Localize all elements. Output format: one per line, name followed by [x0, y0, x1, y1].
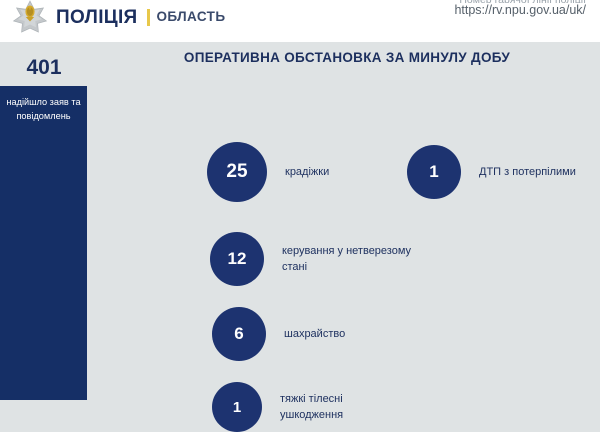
stat-row-drunk-driving[interactable]: 12 керування у нетверезому стані	[210, 232, 422, 286]
stat-row-grievous-bodily-harm[interactable]: 1 тяжкі тілесні ушкодження	[212, 382, 400, 432]
brand-region-label: ОБЛАСТЬ	[157, 10, 226, 24]
total-reports-panel: надійшло заяв та повідомлень	[0, 86, 87, 400]
stat-bubble-value: 6	[212, 307, 266, 361]
site-url-link[interactable]: https://rv.npu.gov.ua/uk/	[454, 3, 586, 19]
stat-row-road-accidents[interactable]: 1 ДТП з потерпілими	[407, 145, 576, 199]
stat-bubble-value: 25	[207, 142, 267, 202]
stat-row-fraud[interactable]: 6 шахрайство	[212, 307, 345, 361]
stat-label: ДТП з потерпілими	[479, 164, 576, 181]
board-title-strip: ОПЕРАТИВНА ОБСТАНОВКА ЗА МИНУЛУ ДОБУ	[88, 50, 600, 72]
stat-label: крадіжки	[285, 164, 329, 181]
stat-label: керування у нетверезому стані	[282, 243, 422, 276]
total-reports-value: 401	[0, 56, 88, 80]
stat-bubble-value: 1	[212, 382, 262, 432]
brand-lockup[interactable]: ПОЛІЦІЯ ОБЛАСТЬ	[8, 0, 225, 34]
stat-label: шахрайство	[284, 326, 345, 343]
total-reports-label: надійшло заяв та повідомлень	[0, 86, 87, 124]
stat-row-theft[interactable]: 25 крадіжки	[207, 142, 329, 202]
brand-title: ПОЛІЦІЯ	[56, 8, 138, 27]
stat-bubble-value: 12	[210, 232, 264, 286]
infographic-canvas: ОПЕРАТИВНА ОБСТАНОВКА ЗА МИНУЛУ ДОБУ 401…	[0, 42, 600, 400]
stat-label: тяжкі тілесні ушкодження	[280, 391, 400, 424]
stat-bubble-value: 1	[407, 145, 461, 199]
site-info: Номер гарячої лінії поліції https://rv.n…	[454, 0, 586, 19]
police-star-badge-icon	[8, 0, 52, 34]
site-header: ПОЛІЦІЯ ОБЛАСТЬ Номер гарячої лінії полі…	[0, 0, 600, 42]
board-title: ОПЕРАТИВНА ОБСТАНОВКА ЗА МИНУЛУ ДОБУ	[88, 50, 600, 65]
brand-divider	[147, 9, 150, 26]
